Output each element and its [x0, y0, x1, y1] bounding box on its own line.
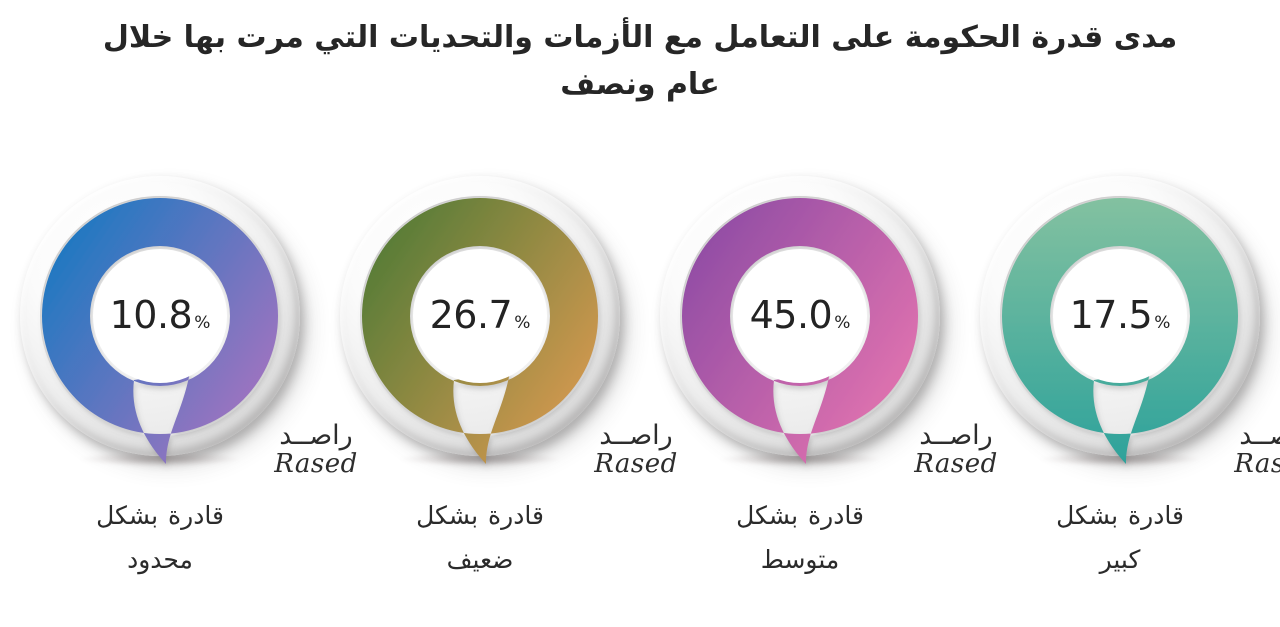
donut-chart[interactable]: 10.8 % راصــد Rased — [14, 170, 306, 470]
value-number: 45.0 — [750, 293, 833, 337]
gauges-row: 17.5 % راصــد Rased قادرة بشكل كبير — [0, 168, 1280, 627]
value-row: 26.7 % — [430, 293, 531, 337]
percent-sign: % — [834, 313, 850, 333]
infographic-page: مدى قدرة الحكومة على التعامل مع الأزمات … — [0, 0, 1280, 627]
donut-chart[interactable]: 45.0 % راصــد Rased — [654, 170, 946, 470]
gauge-caption: قادرة بشكل ضعيف — [330, 494, 630, 582]
gauge-caption-line-1: قادرة بشكل — [330, 494, 630, 538]
gauge-caption-line-1: قادرة بشكل — [10, 494, 310, 538]
gauge-caption: قادرة بشكل محدود — [10, 494, 310, 582]
value-row: 45.0 % — [750, 293, 851, 337]
donut-center-hub: 26.7 % — [413, 249, 547, 383]
gauge-caption: قادرة بشكل متوسط — [650, 494, 950, 582]
value-row: 17.5 % — [1070, 293, 1171, 337]
page-title: مدى قدرة الحكومة على التعامل مع الأزمات … — [0, 14, 1280, 109]
gauge-caption-line-2: متوسط — [650, 538, 950, 582]
gauge-كبير[interactable]: 17.5 % راصــد Rased قادرة بشكل كبير — [960, 168, 1280, 627]
gauge-ضعيف[interactable]: 26.7 % راصــد Rased قادرة بشكل ضعيف — [320, 168, 640, 627]
donut-chart[interactable]: 26.7 % راصــد Rased — [334, 170, 626, 470]
value-row: 10.8 % — [110, 293, 211, 337]
gauge-متوسط[interactable]: 45.0 % راصــد Rased قادرة بشكل متوسط — [640, 168, 960, 627]
gauge-caption: قادرة بشكل كبير — [970, 494, 1270, 582]
donut-chart[interactable]: 17.5 % راصــد Rased — [974, 170, 1266, 470]
title-line-1: مدى قدرة الحكومة على التعامل مع الأزمات … — [0, 14, 1280, 61]
title-line-2: عام ونصف — [0, 61, 1280, 108]
value-number: 10.8 — [110, 293, 193, 337]
donut-center-hub: 17.5 % — [1053, 249, 1187, 383]
gauge-محدود[interactable]: 10.8 % راصــد Rased قادرة بشكل محدود — [0, 168, 320, 627]
gauge-caption-line-2: كبير — [970, 538, 1270, 582]
gauge-caption-line-1: قادرة بشكل — [650, 494, 950, 538]
gauge-caption-line-2: محدود — [10, 538, 310, 582]
donut-center-hub: 10.8 % — [93, 249, 227, 383]
percent-sign: % — [194, 313, 210, 333]
gauge-caption-line-1: قادرة بشكل — [970, 494, 1270, 538]
donut-center-hub: 45.0 % — [733, 249, 867, 383]
percent-sign: % — [514, 313, 530, 333]
gauge-caption-line-2: ضعيف — [330, 538, 630, 582]
value-number: 26.7 — [430, 293, 513, 337]
value-number: 17.5 — [1070, 293, 1153, 337]
percent-sign: % — [1154, 313, 1170, 333]
